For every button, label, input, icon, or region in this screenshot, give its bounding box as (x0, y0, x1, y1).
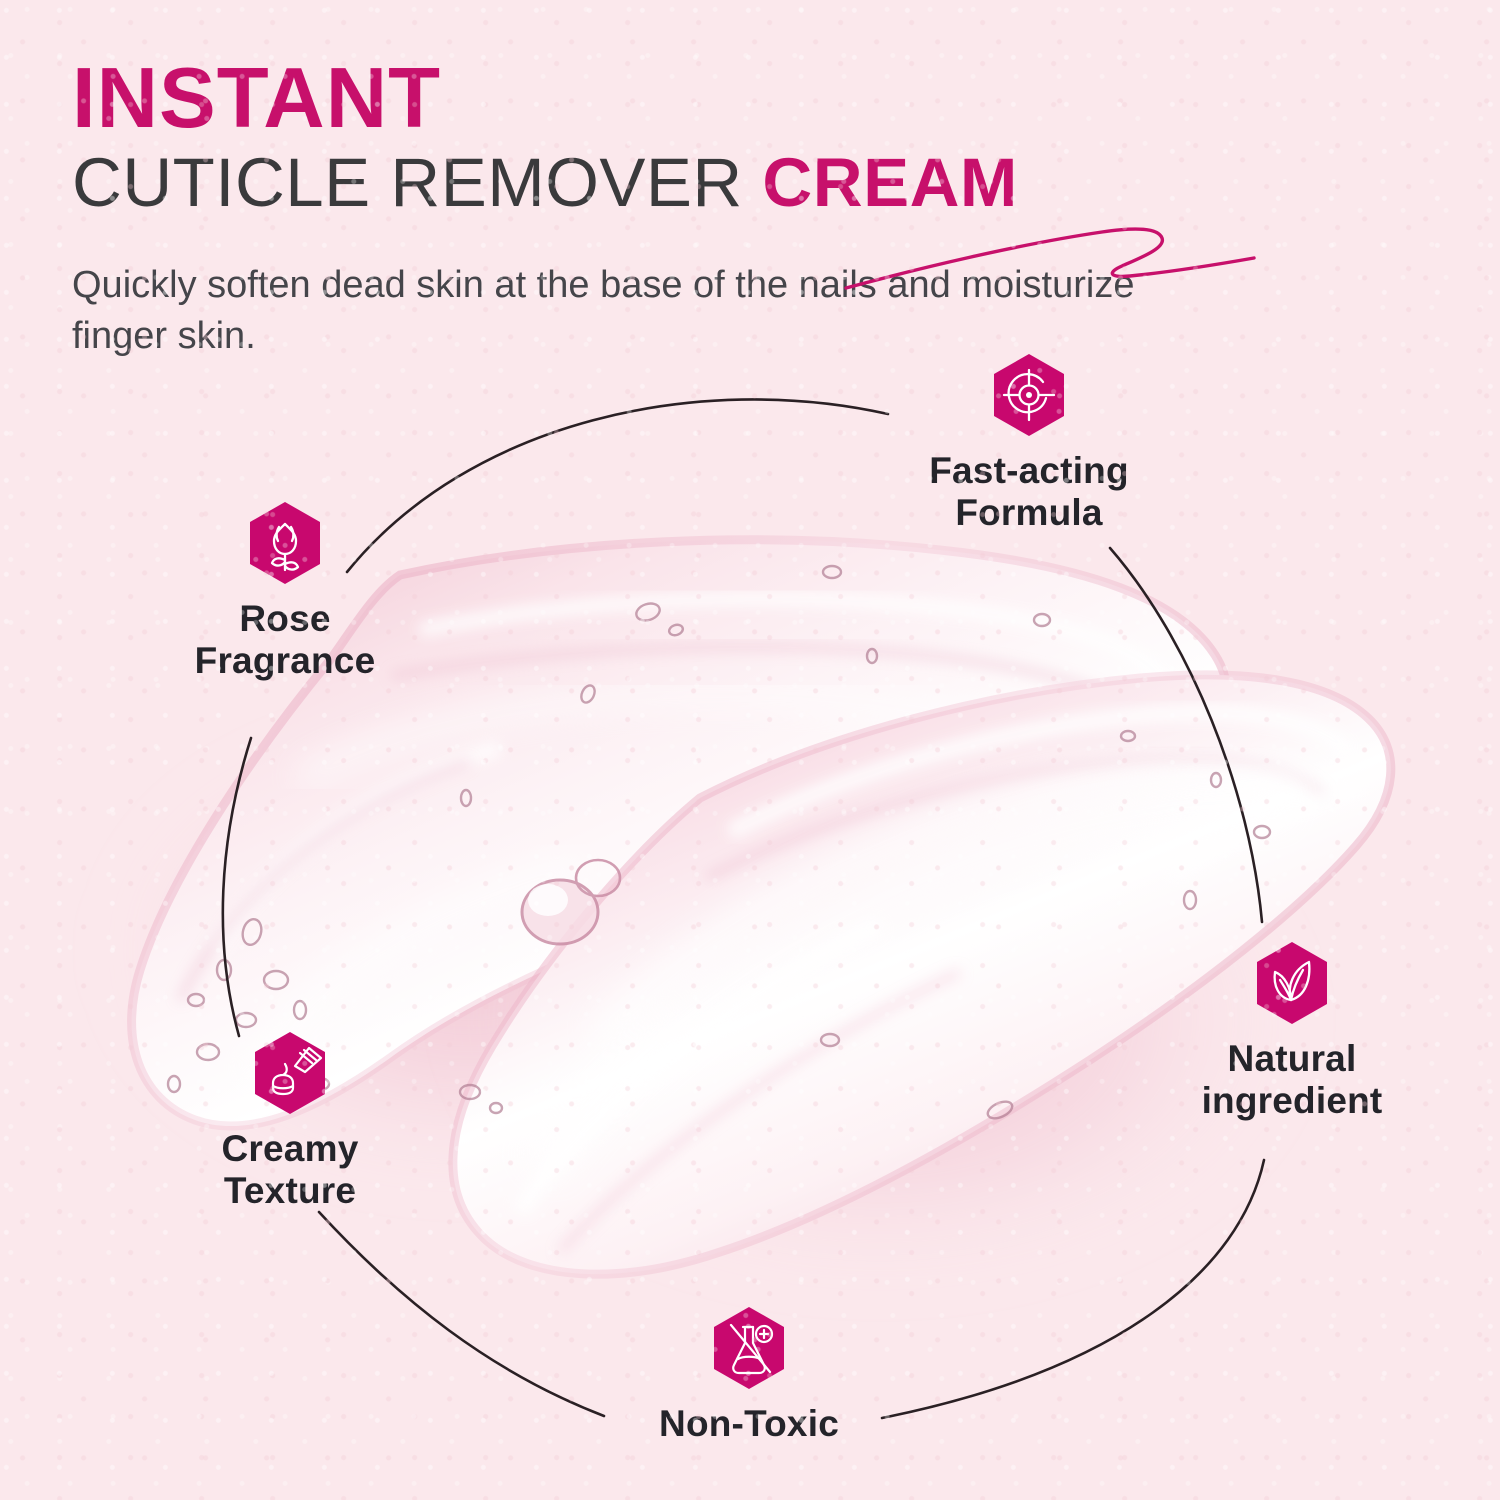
leaves-icon (1253, 940, 1331, 1026)
crossed-out-flask-icon (710, 1305, 788, 1391)
hex-badge (184, 1030, 396, 1116)
hex-badge (1142, 940, 1442, 1026)
headline-plain: CUTICLE REMOVER (72, 144, 762, 221)
feature-fast-acting[interactable]: Fast-acting Formula (898, 352, 1160, 534)
subtitle-text: Quickly soften dead skin at the base of … (72, 260, 1187, 362)
feature-label: Non-Toxic (614, 1403, 884, 1445)
headline-line-1: INSTANT (72, 58, 1412, 140)
header-block: INSTANT CUTICLE REMOVER CREAM Quickly so… (72, 58, 1412, 362)
hex-badge (172, 500, 398, 586)
headline-accent: CREAM (762, 144, 1018, 221)
feature-label: Rose Fragrance (172, 598, 398, 682)
target-crosshair-icon (990, 352, 1068, 438)
feature-label: Creamy Texture (184, 1128, 396, 1212)
feature-label: Natural ingredient (1142, 1038, 1442, 1122)
infographic-canvas: INSTANT CUTICLE REMOVER CREAM Quickly so… (0, 0, 1500, 1500)
cream-swirl-icon (251, 1030, 329, 1116)
feature-label: Fast-acting Formula (898, 450, 1160, 534)
hex-badge (614, 1305, 884, 1391)
feature-natural-ingredient[interactable]: Natural ingredient (1142, 940, 1442, 1122)
feature-creamy-texture[interactable]: Creamy Texture (184, 1030, 396, 1212)
feature-rose-fragrance[interactable]: Rose Fragrance (172, 500, 398, 682)
hex-badge (898, 352, 1160, 438)
headline-line-2: CUTICLE REMOVER CREAM (72, 146, 1412, 221)
rose-flower-icon (246, 500, 324, 586)
feature-non-toxic[interactable]: Non-Toxic (614, 1305, 884, 1445)
